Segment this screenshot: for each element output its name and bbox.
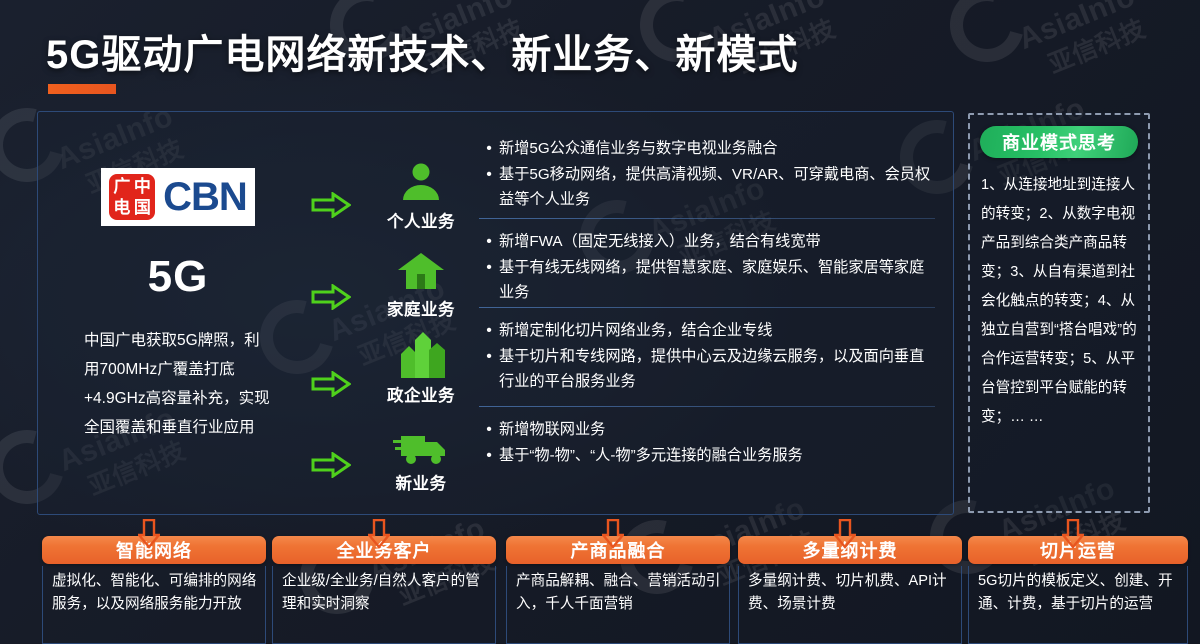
card-slice-operation[interactable]: 切片运营 5G切片的模板定义、创建、开通、计费，基于切片的运营 — [968, 536, 1188, 644]
business-model-list: 1、从连接地址到连接人的转变；2、从数字电视产品到综合类产商品转变；3、从自有渠… — [979, 171, 1139, 432]
category-new-business[interactable]: 新业务 — [363, 422, 479, 494]
bullet-item: •新增定制化切片网络业务，结合企业专线 — [479, 318, 935, 343]
bullet-separator — [479, 218, 935, 219]
bullet-item: •基于“物-物”、“人-物”多元连接的融合业务服务 — [479, 443, 935, 468]
arrow-down-icon — [602, 519, 624, 549]
bullet-separator — [479, 307, 935, 308]
bullet-dot-icon: • — [479, 318, 499, 343]
cbn-mark-char-2: 中 — [133, 177, 153, 197]
arrow-right-icon — [311, 371, 351, 397]
bullet-text: 基于切片和专线网路，提供中心云及边缘云服务，以及面向垂直行业的平台服务业务 — [499, 344, 935, 394]
bullet-item: •新增5G公众通信业务与数字电视业务融合 — [479, 136, 935, 161]
card-intelligent-network[interactable]: 智能网络 虚拟化、智能化、可编排的网络服务，以及网络服务能力开放 — [42, 536, 266, 644]
main-content-panel: 广 中 电 国 CBN 5G 中国广电获取5G牌照，利用700MHz广覆盖打底+… — [37, 111, 954, 515]
business-model-badge: 商业模式思考 — [980, 126, 1138, 158]
house-icon — [363, 248, 479, 292]
bullet-group-home: •新增FWA（固定无线接入）业务，结合有线宽带 •基于有线无线网络，提供智慧家庭… — [479, 229, 935, 306]
card-full-service-customer[interactable]: 全业务客户 企业级/全业务/自然人客户的管理和实时洞察 — [272, 536, 496, 644]
bullet-dot-icon: • — [479, 136, 499, 161]
person-icon — [363, 160, 479, 204]
bullet-dot-icon: • — [479, 344, 499, 369]
business-model-panel: 商业模式思考 1、从连接地址到连接人的转变；2、从数字电视产品到综合类产商品转变… — [968, 113, 1150, 513]
bullet-dot-icon: • — [479, 162, 499, 187]
watermark-text: AsiaInfo亚信科技 — [1014, 0, 1153, 87]
bullet-separator — [479, 406, 935, 407]
category-government-enterprise[interactable]: 政企业务 — [363, 334, 479, 406]
slide-root: AsiaInfo亚信科技 AsiaInfo亚信科技 AsiaInfo亚信科技 A… — [0, 0, 1200, 644]
bullet-text: 基于有线无线网络，提供智慧家庭、家庭娱乐、智能家居等家庭业务 — [499, 255, 935, 305]
bullet-group-personal: •新增5G公众通信业务与数字电视业务融合 •基于5G移动网络，提供高清视频、VR… — [479, 136, 935, 213]
category-label: 家庭业务 — [363, 296, 479, 320]
category-column: 个人业务 家庭业务 政企业务 新业务 — [363, 112, 479, 514]
left-brand-column: 广 中 电 国 CBN 5G 中国广电获取5G牌照，利用700MHz广覆盖打底+… — [78, 130, 278, 442]
bullet-text: 基于5G移动网络，提供高清视频、VR/AR、可穿戴电商、会员权益等个人业务 — [499, 162, 935, 212]
category-label: 个人业务 — [363, 208, 479, 232]
five-g-headline: 5G — [78, 252, 278, 302]
cbn-wordmark: CBN — [163, 177, 247, 217]
card-body: 虚拟化、智能化、可编排的网络服务，以及网络服务能力开放 — [42, 566, 266, 644]
bullet-dot-icon: • — [479, 255, 499, 280]
card-body: 企业级/全业务/自然人客户的管理和实时洞察 — [272, 566, 496, 644]
bullet-dot-icon: • — [479, 417, 499, 442]
title-accent-bar — [48, 84, 116, 94]
buildings-icon — [363, 334, 479, 378]
bullet-item: •新增物联网业务 — [479, 417, 935, 442]
bullet-dot-icon: • — [479, 229, 499, 254]
left-description: 中国广电获取5G牌照，利用700MHz广覆盖打底+4.9GHz高容量补充，实现全… — [78, 326, 278, 442]
cbn-mark-char-4: 国 — [133, 198, 153, 218]
category-label: 新业务 — [363, 470, 479, 494]
card-body: 多量纲计费、切片机费、API计费、场景计费 — [738, 566, 962, 644]
card-body: 产商品解耦、融合、营销活动引入，千人千面营销 — [506, 566, 730, 644]
bullet-text: 新增定制化切片网络业务，结合企业专线 — [499, 318, 935, 343]
bottom-card-row: 智能网络 虚拟化、智能化、可编排的网络服务，以及网络服务能力开放 全业务客户 企… — [0, 519, 1200, 644]
arrow-right-icon — [311, 192, 351, 218]
cbn-mark-char-3: 电 — [112, 198, 132, 218]
page-title: 5G驱动广电网络新技术、新业务、新模式 — [46, 22, 798, 80]
cbn-mark-char-1: 广 — [112, 177, 132, 197]
bullet-item: •新增FWA（固定无线接入）业务，结合有线宽带 — [479, 229, 935, 254]
category-home[interactable]: 家庭业务 — [363, 248, 479, 320]
bullet-item: •基于有线无线网络，提供智慧家庭、家庭娱乐、智能家居等家庭业务 — [479, 255, 935, 305]
card-product-convergence[interactable]: 产商品融合 产商品解耦、融合、营销活动引入，千人千面营销 — [506, 536, 730, 644]
bullet-dot-icon: • — [479, 443, 499, 468]
business-model-item: … … — [1010, 409, 1043, 425]
arrow-down-icon — [368, 519, 390, 549]
bullet-text: 基于“物-物”、“人-物”多元连接的融合业务服务 — [499, 443, 935, 468]
category-personal[interactable]: 个人业务 — [363, 160, 479, 232]
bullet-text: 新增物联网业务 — [499, 417, 935, 442]
bullet-text: 新增FWA（固定无线接入）业务，结合有线宽带 — [499, 229, 935, 254]
cbn-logo: 广 中 电 国 CBN — [101, 168, 255, 226]
truck-icon — [363, 422, 479, 466]
watermark-ring — [936, 0, 1037, 76]
bullet-text: 新增5G公众通信业务与数字电视业务融合 — [499, 136, 935, 161]
bullet-group-new-business: •新增物联网业务 •基于“物-物”、“人-物”多元连接的融合业务服务 — [479, 417, 935, 469]
card-multi-dimension-billing[interactable]: 多量纲计费 多量纲计费、切片机费、API计费、场景计费 — [738, 536, 962, 644]
arrow-right-icon — [311, 284, 351, 310]
arrow-down-icon — [1062, 519, 1084, 549]
bullet-column: •新增5G公众通信业务与数字电视业务融合 •基于5G移动网络，提供高清视频、VR… — [479, 112, 943, 514]
bullet-item: •基于切片和专线网路，提供中心云及边缘云服务，以及面向垂直行业的平台服务业务 — [479, 344, 935, 394]
cbn-mark-icon: 广 中 电 国 — [109, 174, 155, 220]
flow-arrow-column — [303, 112, 361, 514]
card-body: 5G切片的模板定义、创建、开通、计费，基于切片的运营 — [968, 566, 1188, 644]
arrow-down-icon — [138, 519, 160, 549]
arrow-down-icon — [834, 519, 856, 549]
bullet-group-government-enterprise: •新增定制化切片网络业务，结合企业专线 •基于切片和专线网路，提供中心云及边缘云… — [479, 318, 935, 395]
category-label: 政企业务 — [363, 382, 479, 406]
bullet-item: •基于5G移动网络，提供高清视频、VR/AR、可穿戴电商、会员权益等个人业务 — [479, 162, 935, 212]
arrow-right-icon — [311, 452, 351, 478]
